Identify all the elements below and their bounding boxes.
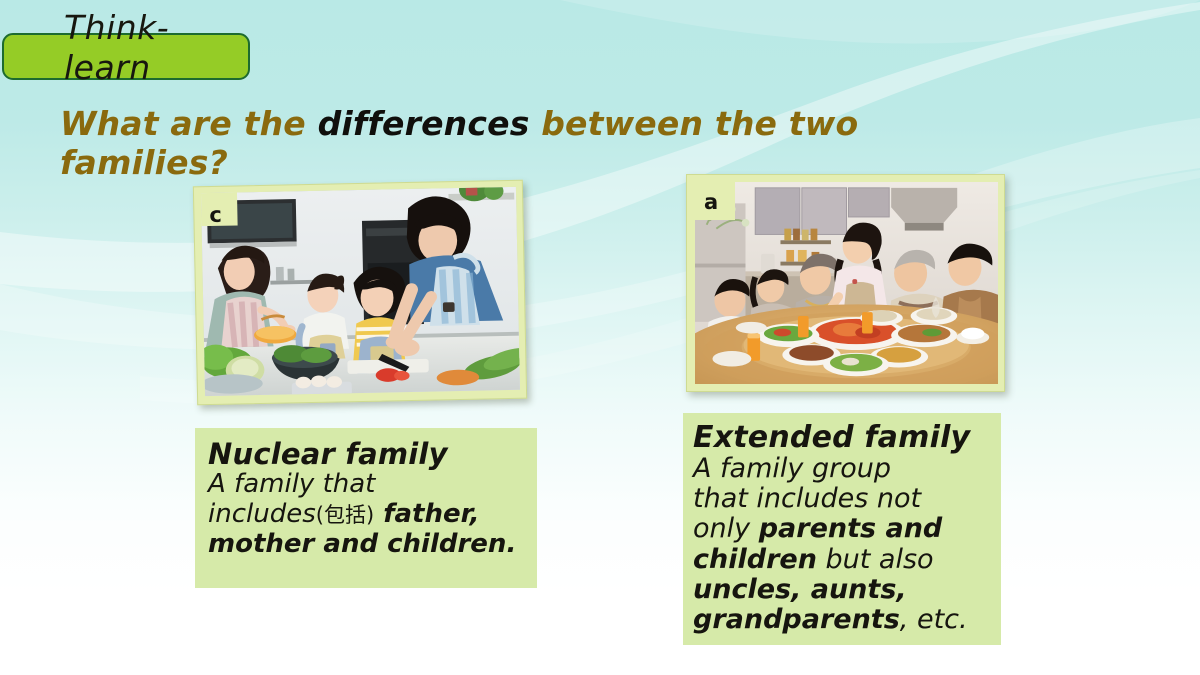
caption-extended-parents: parents and: [759, 513, 943, 544]
photo-badge-a: a: [695, 182, 735, 220]
caption-extended-grandparents: grandparents: [693, 604, 900, 635]
photo-nuclear-family-image: Today: [201, 187, 520, 396]
caption-extended-line-2: that includes not: [693, 484, 1001, 514]
caption-extended-body: A family group that includes not only pa…: [693, 454, 1001, 635]
photo-badge-c: c: [201, 192, 238, 226]
caption-nuclear-title: Nuclear family: [208, 438, 537, 470]
dinner-family-illustration: [695, 182, 998, 384]
caption-nuclear-body: A family that includes(包括) father, mothe…: [208, 470, 537, 559]
caption-nuclear-chinese-gloss: (包括): [316, 503, 374, 527]
caption-extended-only: only: [693, 513, 759, 544]
caption-nuclear-father: father,: [374, 499, 479, 529]
caption-extended-line-6: grandparents, etc.: [693, 605, 1001, 635]
think-learn-label: Think- learn: [64, 8, 324, 89]
caption-nuclear-mother-children: mother and children.: [208, 529, 516, 559]
page-title: What are the differences between the two…: [60, 105, 970, 183]
photo-nuclear-family[interactable]: Today: [193, 180, 527, 406]
photo-extended-family-image: a: [695, 182, 998, 384]
caption-extended-line-5: uncles, aunts,: [693, 575, 1001, 605]
background-wave-decoration: [0, 0, 1200, 675]
slide-canvas: Think- learn What are the differences be…: [0, 0, 1200, 675]
kitchen-family-illustration: Today: [201, 187, 520, 396]
question-prefix: What are the: [60, 104, 318, 143]
caption-extended-family: Extended family A family group that incl…: [683, 413, 1001, 645]
caption-extended-line-1: A family group: [693, 454, 1001, 484]
caption-extended-butalso: but also: [817, 544, 934, 575]
caption-extended-etc: , etc.: [900, 604, 968, 635]
caption-nuclear-includes: includes: [208, 499, 316, 529]
caption-extended-uncles-aunts: uncles, aunts,: [693, 574, 907, 605]
caption-extended-title: Extended family: [693, 421, 1001, 454]
photo-extended-family[interactable]: a: [686, 174, 1005, 392]
caption-nuclear-family: Nuclear family A family that includes(包括…: [195, 428, 537, 588]
caption-nuclear-line-3: mother and children.: [208, 530, 537, 560]
caption-nuclear-line-2: includes(包括) father,: [208, 500, 537, 530]
caption-extended-line-3: only parents and: [693, 514, 1001, 544]
question-emphasis: differences: [318, 104, 530, 143]
caption-extended-line-4: children but also: [693, 545, 1001, 575]
caption-extended-children: children: [693, 544, 817, 575]
caption-nuclear-line-1: A family that: [208, 470, 537, 500]
